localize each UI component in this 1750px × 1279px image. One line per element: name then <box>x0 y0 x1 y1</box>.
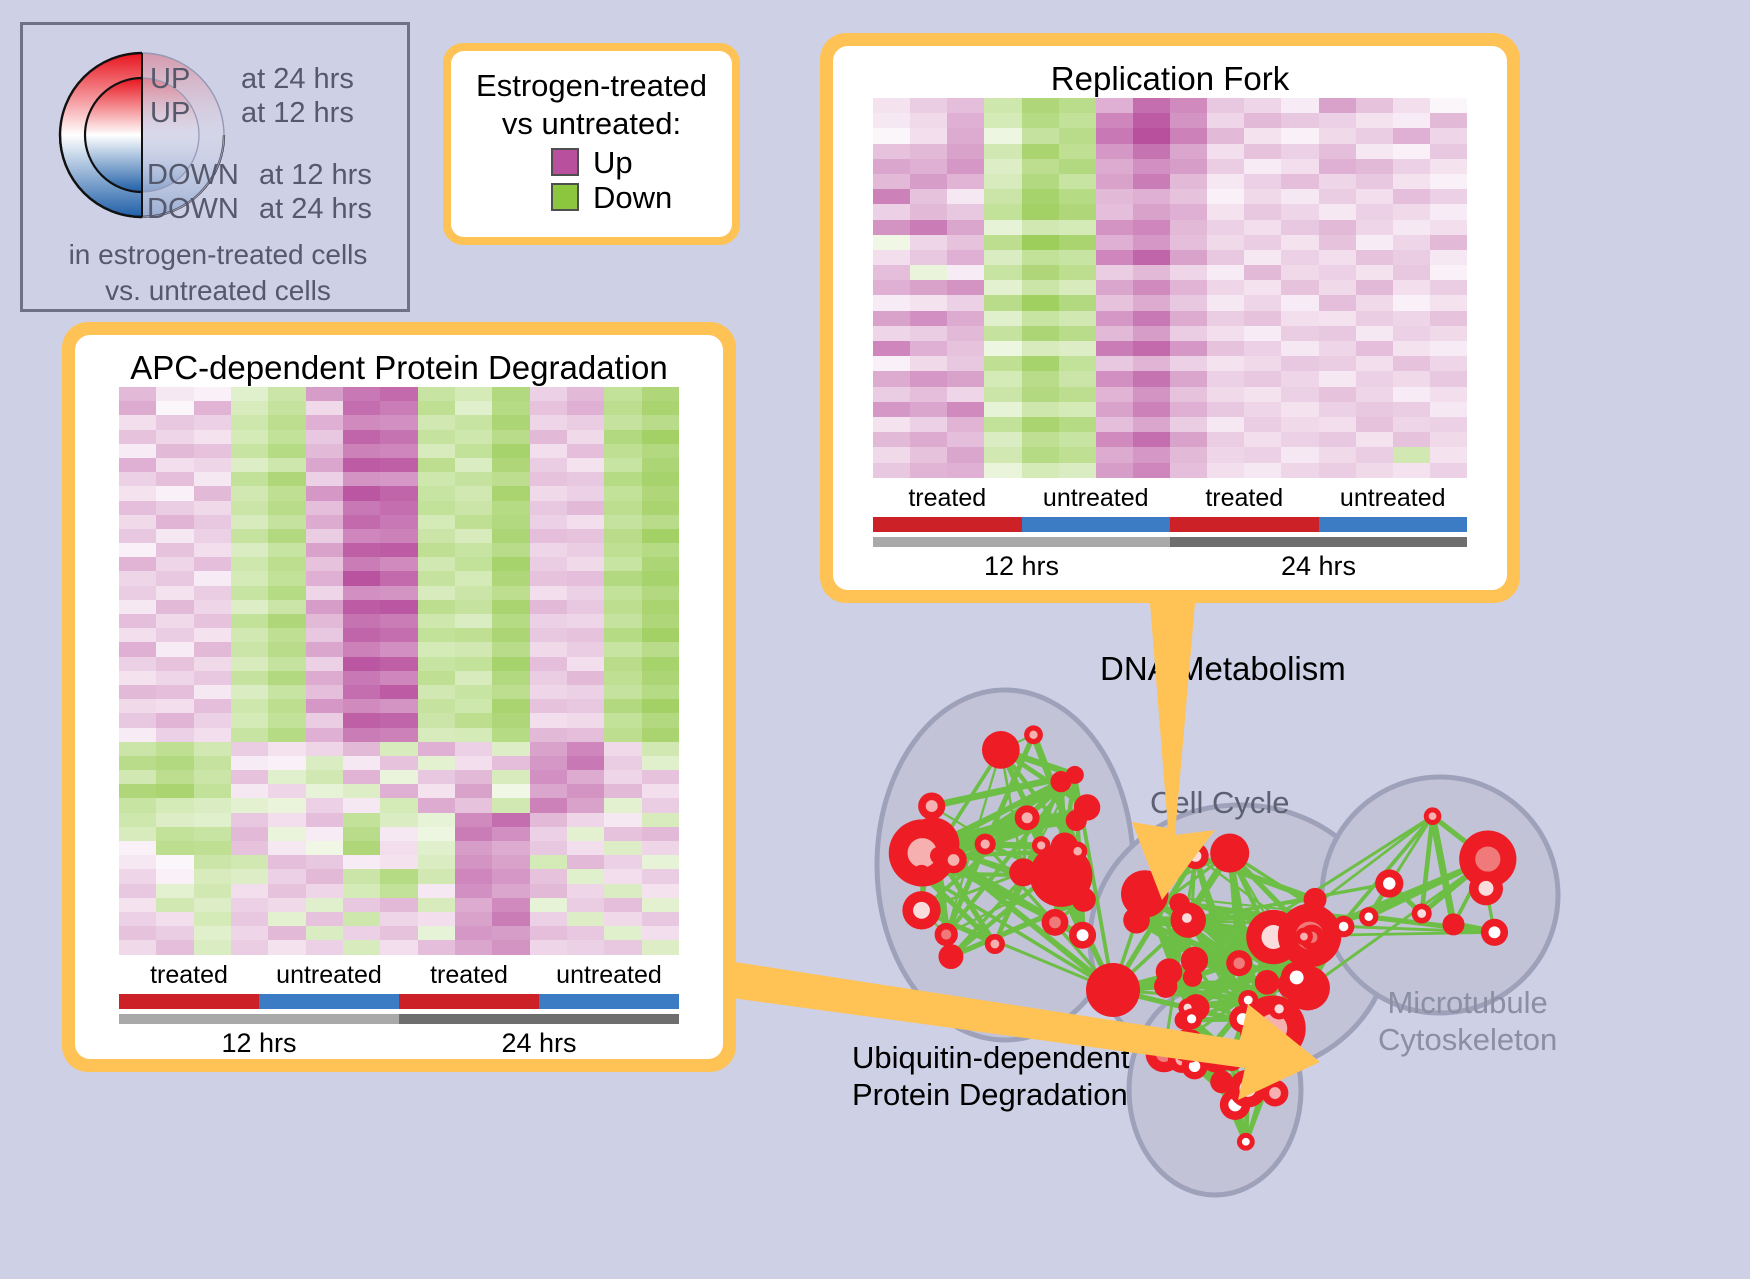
heatmap-cell <box>1319 265 1356 280</box>
heatmap-cell <box>119 827 156 841</box>
network-node[interactable] <box>1210 833 1249 872</box>
heatmap-cell <box>455 798 492 812</box>
heatmap-cell <box>306 898 343 912</box>
network-node[interactable] <box>1156 958 1183 985</box>
network-node[interactable] <box>1171 1029 1205 1063</box>
down-label: Down <box>593 182 672 213</box>
heatmap-cell <box>231 742 268 756</box>
heatmap-cell <box>567 628 604 642</box>
heatmap-cell <box>984 311 1021 326</box>
heatmap-cell <box>455 685 492 699</box>
heatmap-cell <box>343 671 380 685</box>
network-node[interactable] <box>1069 922 1096 949</box>
network-node[interactable] <box>1269 998 1290 1019</box>
heatmap-cell <box>1133 447 1170 462</box>
heatmap-cell <box>156 742 193 756</box>
heatmap-cell <box>306 628 343 642</box>
heatmap-cell <box>1207 98 1244 113</box>
heatmap-cell <box>1133 387 1170 402</box>
heatmap-cell <box>156 486 193 500</box>
heatmap-cell <box>418 912 455 926</box>
heatmap-cell <box>1319 432 1356 447</box>
heatmap-cell <box>343 728 380 742</box>
heatmap-cell <box>268 557 305 571</box>
heatmap-cell <box>231 827 268 841</box>
heatmap-cell <box>455 543 492 557</box>
heatmap-cell <box>1133 341 1170 356</box>
heatmap-cell <box>530 940 567 954</box>
heatmap-cell <box>910 144 947 159</box>
network-node[interactable] <box>1262 1080 1289 1107</box>
heatmap-cell <box>380 571 417 585</box>
heatmap-cell <box>156 855 193 869</box>
network-node[interactable] <box>1237 1133 1255 1151</box>
heatmap-cell <box>343 855 380 869</box>
network-node[interactable] <box>1032 836 1051 855</box>
heatmap-cell <box>1430 311 1467 326</box>
heatmap-cell <box>455 557 492 571</box>
heatmap-cell <box>530 600 567 614</box>
heatmap-cell <box>418 926 455 940</box>
heatmap-cell <box>455 926 492 940</box>
heatmap-cell <box>231 770 268 784</box>
heatmap-cell <box>1170 235 1207 250</box>
heatmap-cell <box>1133 417 1170 432</box>
heatmap-cell <box>343 841 380 855</box>
heatmap-cell <box>380 415 417 429</box>
panel-replication-fork-inner: Replication Fork treateduntreatedtreated… <box>833 46 1507 590</box>
node-core <box>1073 847 1081 855</box>
heatmap-cell <box>492 657 529 671</box>
heatmap-cell <box>343 600 380 614</box>
heatmap-cell <box>1207 250 1244 265</box>
heatmap-cell <box>418 798 455 812</box>
heatmap-cell <box>194 728 231 742</box>
heatmap-cell <box>1319 98 1356 113</box>
heatmap-cell <box>1022 311 1059 326</box>
heatmap-cell <box>642 657 679 671</box>
heatmap-cell <box>306 940 343 954</box>
network-node[interactable] <box>1050 771 1071 792</box>
heatmap-cell <box>1281 447 1318 462</box>
heatmap-cell <box>604 458 641 472</box>
heatmap-cell <box>306 486 343 500</box>
heatmap-cell <box>231 557 268 571</box>
heatmap-cell <box>604 557 641 571</box>
heatmap-cell <box>343 586 380 600</box>
heatmap-cell <box>642 926 679 940</box>
heatmap-cell <box>119 798 156 812</box>
heatmap-cell <box>1133 204 1170 219</box>
heatmap-cell <box>1430 144 1467 159</box>
heatmap-cell <box>194 827 231 841</box>
heatmap-cell <box>455 430 492 444</box>
heatmap-cell <box>530 642 567 656</box>
heatmap-cell <box>1059 250 1096 265</box>
heatmap-cell <box>604 912 641 926</box>
heatmap-cell <box>306 798 343 812</box>
heatmap-cell <box>231 628 268 642</box>
network-node[interactable] <box>1333 916 1355 938</box>
heatmap-cell <box>231 529 268 543</box>
heatmap-cell <box>873 432 910 447</box>
heatmap-cell <box>156 501 193 515</box>
heatmap-cell <box>492 756 529 770</box>
heatmap-cell <box>1207 356 1244 371</box>
network-node[interactable] <box>1086 963 1140 1017</box>
heatmap-cell <box>604 784 641 798</box>
heatmap-cell <box>910 280 947 295</box>
heatmap-cell <box>1319 371 1356 386</box>
heatmap-cell <box>455 486 492 500</box>
heatmap-cell <box>873 295 910 310</box>
heatmap-cell <box>642 671 679 685</box>
heatmap-cell <box>343 458 380 472</box>
heatmap-cell <box>455 472 492 486</box>
heatmap-cell <box>1393 189 1430 204</box>
heatmap-cell <box>343 784 380 798</box>
heatmap-cell <box>604 756 641 770</box>
heatmap-cell <box>268 940 305 954</box>
network-node[interactable] <box>913 865 930 882</box>
heatmap-cell <box>380 614 417 628</box>
heatmap-cell <box>1096 128 1133 143</box>
heatmap-cell <box>492 415 529 429</box>
heatmap-cell <box>604 642 641 656</box>
heatmap-cell <box>1430 98 1467 113</box>
network-node[interactable] <box>1009 858 1037 886</box>
heatmap-cell <box>268 728 305 742</box>
network-node[interactable] <box>1424 807 1442 825</box>
heatmap-cell <box>306 813 343 827</box>
heatmap-cell <box>1207 128 1244 143</box>
network-node[interactable] <box>1182 843 1208 869</box>
heatmap-cell <box>156 543 193 557</box>
network-node[interactable] <box>975 834 996 855</box>
heatmap-cell <box>268 855 305 869</box>
heatmap-cell <box>343 557 380 571</box>
heatmap-cell <box>984 295 1021 310</box>
condition-bars-apc <box>119 994 679 1009</box>
heatmap-cell <box>380 628 417 642</box>
heatmap-cell <box>873 159 910 174</box>
heatmap-cell <box>418 529 455 543</box>
heatmap-cell <box>455 784 492 798</box>
heatmap-cell <box>1319 189 1356 204</box>
heatmap-cell <box>455 713 492 727</box>
heatmap-cell <box>1430 371 1467 386</box>
heatmap-cell <box>380 699 417 713</box>
heatmap-cell <box>156 784 193 798</box>
node-core <box>1037 841 1045 849</box>
heatmap-cell <box>306 770 343 784</box>
heatmap-cell <box>604 501 641 515</box>
heatmap-cell <box>156 430 193 444</box>
node-outer <box>913 865 930 882</box>
network-node[interactable] <box>1295 928 1313 946</box>
heatmap-cell <box>156 898 193 912</box>
network-node[interactable] <box>1024 725 1043 744</box>
heatmap-cell <box>1393 128 1430 143</box>
heatmap-cell <box>604 430 641 444</box>
network-node[interactable] <box>1015 805 1040 830</box>
heatmap-cell <box>306 713 343 727</box>
heatmap-cell <box>119 586 156 600</box>
heatmap-cell <box>306 458 343 472</box>
up-label: Up <box>593 147 633 178</box>
heatmap-cell <box>1133 265 1170 280</box>
heatmap-cell <box>492 430 529 444</box>
network-node[interactable] <box>1375 869 1403 897</box>
heatmap-cell <box>119 756 156 770</box>
heatmap-cell <box>306 671 343 685</box>
network-node[interactable] <box>1238 990 1258 1010</box>
network-node[interactable] <box>1304 888 1327 911</box>
heatmap-cell <box>947 98 984 113</box>
node-core <box>1364 912 1373 921</box>
heatmap-cell <box>530 841 567 855</box>
node-core <box>1242 1138 1250 1146</box>
heatmap-cell <box>268 515 305 529</box>
heatmap-cell <box>567 827 604 841</box>
heatmap-cell <box>984 174 1021 189</box>
network-node[interactable] <box>1042 909 1069 936</box>
heatmap-cell <box>156 813 193 827</box>
heatmap-cell <box>567 642 604 656</box>
heatmap-cell <box>418 657 455 671</box>
heatmap-cell <box>1170 220 1207 235</box>
network-node[interactable] <box>902 891 940 929</box>
heatmap-cell <box>343 415 380 429</box>
heatmap-cell <box>1430 235 1467 250</box>
heatmap-cell <box>418 600 455 614</box>
network-node[interactable] <box>1481 919 1508 946</box>
heatmap-cell <box>1430 463 1467 478</box>
heatmap-cell <box>492 869 529 883</box>
heatmap-cell <box>873 235 910 250</box>
heatmap-cell <box>194 529 231 543</box>
heatmap-cell <box>1207 463 1244 478</box>
heatmap-cell <box>380 742 417 756</box>
network-node[interactable] <box>1068 842 1087 861</box>
heatmap-cell <box>1430 295 1467 310</box>
heatmap-cell <box>455 855 492 869</box>
heatmap-cell <box>1096 447 1133 462</box>
heatmap-cell <box>1022 402 1059 417</box>
heatmap-cell <box>268 529 305 543</box>
heatmap-cell <box>380 685 417 699</box>
heatmap-cell <box>455 728 492 742</box>
network-node[interactable] <box>1181 1008 1202 1029</box>
heatmap-cell <box>604 770 641 784</box>
heatmap-cell <box>418 827 455 841</box>
heatmap-cell <box>567 699 604 713</box>
network-node[interactable] <box>1072 888 1096 912</box>
heatmap-cell <box>1022 447 1059 462</box>
heatmap-cell <box>343 529 380 543</box>
heatmap-cell <box>1393 220 1430 235</box>
network-node[interactable] <box>1221 1049 1243 1071</box>
up-color-swatch <box>551 148 579 176</box>
network-node[interactable] <box>918 793 945 820</box>
heatmap-cell <box>119 401 156 415</box>
time-bars-apc <box>119 1014 679 1024</box>
network-node[interactable] <box>938 944 963 969</box>
heatmap-cell <box>306 642 343 656</box>
heatmap-cell <box>1059 447 1096 462</box>
heatmap-cell <box>306 401 343 415</box>
heatmap-cell <box>567 444 604 458</box>
network-node[interactable] <box>1359 907 1378 926</box>
heatmap-cell <box>530 728 567 742</box>
heatmap-cell <box>1022 98 1059 113</box>
network-node[interactable] <box>1066 810 1087 831</box>
network-node[interactable] <box>1229 1070 1267 1108</box>
heatmap-cell <box>231 926 268 940</box>
heatmap-cell <box>455 940 492 954</box>
heatmap-cell <box>1207 159 1244 174</box>
condition-label: treated <box>119 961 259 990</box>
heatmap-cell <box>1022 128 1059 143</box>
network-node[interactable] <box>1123 907 1150 934</box>
heatmap-cell <box>947 463 984 478</box>
network-node[interactable] <box>935 923 958 946</box>
heatmap-cell <box>231 728 268 742</box>
heatmap-cell <box>1281 371 1318 386</box>
heatmap-cell <box>604 869 641 883</box>
heatmap-cell <box>1356 204 1393 219</box>
heatmap-cell <box>604 798 641 812</box>
heatmap-cell <box>984 220 1021 235</box>
network-node[interactable] <box>1281 962 1313 994</box>
heatmap-cell <box>194 557 231 571</box>
network-node[interactable] <box>1183 968 1202 987</box>
heatmap-cell <box>984 356 1021 371</box>
heatmap-cell <box>873 387 910 402</box>
heatmap-cell <box>1356 144 1393 159</box>
heatmap-cell <box>567 529 604 543</box>
condition-bar <box>539 994 679 1009</box>
heatmap-cell <box>380 798 417 812</box>
network-node[interactable] <box>1229 1006 1256 1033</box>
heatmap-cell <box>567 657 604 671</box>
heatmap-cell <box>156 628 193 642</box>
heatmap-cell <box>119 685 156 699</box>
heatmap-cell <box>1022 432 1059 447</box>
network-node[interactable] <box>1469 871 1503 905</box>
heatmap-cell <box>1133 250 1170 265</box>
heatmap-cell <box>1393 174 1430 189</box>
heatmap-cell <box>380 770 417 784</box>
network-node[interactable] <box>1256 1044 1274 1062</box>
heatmap-cell <box>343 940 380 954</box>
heatmap-cell <box>119 600 156 614</box>
heatmap-cell <box>268 486 305 500</box>
heatmap-cell <box>455 756 492 770</box>
network-node[interactable] <box>1412 903 1432 923</box>
heatmap-cell <box>530 543 567 557</box>
heatmap-cell <box>1393 417 1430 432</box>
heatmap-cell <box>418 614 455 628</box>
heatmap-cell <box>231 841 268 855</box>
network-node[interactable] <box>940 847 967 874</box>
heatmap-cell <box>268 628 305 642</box>
heatmap-cell <box>194 756 231 770</box>
heatmap-cell <box>604 628 641 642</box>
heatmap-cell <box>119 642 156 656</box>
heatmap-cell <box>492 557 529 571</box>
heatmap-cell <box>604 614 641 628</box>
heatmap-cell <box>492 444 529 458</box>
heatmap-cell <box>306 926 343 940</box>
heatmap-cell <box>156 600 193 614</box>
network-node[interactable] <box>1176 907 1198 929</box>
heatmap-cell <box>567 415 604 429</box>
heatmap-cell <box>604 713 641 727</box>
heatmap-cell <box>530 586 567 600</box>
heatmap-cell <box>642 713 679 727</box>
heatmap-cell <box>194 685 231 699</box>
heatmap-cell <box>343 401 380 415</box>
network-node[interactable] <box>1226 950 1252 976</box>
network-node[interactable] <box>1442 913 1464 935</box>
heatmap-cell <box>1207 174 1244 189</box>
heatmap-cell <box>567 940 604 954</box>
heatmap-cell <box>231 884 268 898</box>
heatmap-cell <box>231 784 268 798</box>
heatmap-cell <box>1356 356 1393 371</box>
heatmap-cell <box>268 430 305 444</box>
key-word-up-24: UP <box>150 63 190 96</box>
heatmap-cell <box>1393 371 1430 386</box>
heatmap-cell <box>156 940 193 954</box>
network-node[interactable] <box>982 731 1020 769</box>
heatmap-cell <box>1319 250 1356 265</box>
heatmap-cell <box>1281 387 1318 402</box>
heatmap-cell <box>119 543 156 557</box>
heatmap-cell <box>343 501 380 515</box>
heatmap-cell <box>530 444 567 458</box>
heatmap-cell <box>306 841 343 855</box>
cluster-label-dna-metabolism: DNA Metabolism <box>1100 650 1346 689</box>
heatmap-cell <box>380 841 417 855</box>
heatmap-cell <box>873 356 910 371</box>
network-node[interactable] <box>1255 970 1280 995</box>
heatmap-cell <box>343 756 380 770</box>
heatmap-cell <box>1393 311 1430 326</box>
heatmap-cell <box>194 543 231 557</box>
heatmap-cell <box>1319 463 1356 478</box>
heatmap-cell <box>1096 250 1133 265</box>
heatmap-cell <box>530 571 567 585</box>
heatmap-cell <box>418 884 455 898</box>
heatmap-cell <box>1133 174 1170 189</box>
heatmap-cell <box>156 515 193 529</box>
heatmap-cell <box>455 586 492 600</box>
heatmap-cell <box>642 472 679 486</box>
heatmap-cell <box>156 415 193 429</box>
heatmap-cell <box>1356 432 1393 447</box>
heatmap-cell <box>567 472 604 486</box>
condition-bars-replication <box>873 517 1467 532</box>
heatmap-cell <box>194 784 231 798</box>
node-core <box>926 800 938 812</box>
heatmap-cell <box>1207 295 1244 310</box>
heatmap-cell <box>1356 220 1393 235</box>
heatmap-cell <box>268 444 305 458</box>
network-node[interactable] <box>985 934 1005 954</box>
heatmap-cell <box>492 784 529 798</box>
